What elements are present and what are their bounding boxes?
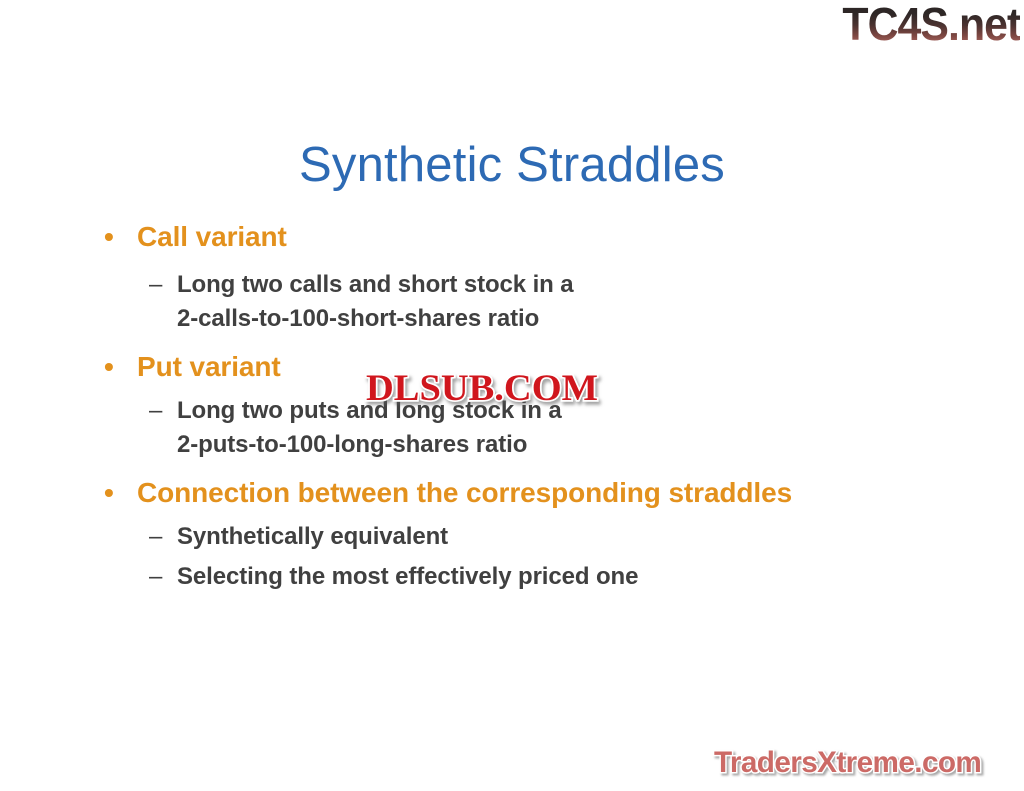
bullet-level1-call-variant: • Call variant: [96, 218, 976, 255]
bullet-level2-line: 2-puts-to-100-long-shares ratio: [177, 428, 976, 462]
bullet-dot-icon: •: [104, 348, 114, 385]
bullet-level2-line: Synthetically equivalent: [177, 520, 976, 554]
bullet-level2-line: Long two calls and short stock in a: [177, 268, 976, 302]
bullet-level2-line: 2-calls-to-100-short-shares ratio: [177, 302, 976, 336]
presentation-slide: TC4S.net Synthetic Straddles • Call vari…: [0, 0, 1024, 791]
spacer: [96, 255, 976, 268]
dlsub-watermark: DLSUB.COM: [366, 370, 598, 407]
dash-marker-icon: –: [149, 560, 162, 594]
bullet-level1-label: Put variant: [137, 351, 281, 382]
spacer: [96, 336, 976, 348]
bullet-level2-call-detail: – Long two calls and short stock in a 2-…: [96, 268, 976, 336]
dash-marker-icon: –: [149, 520, 162, 554]
bullet-level2-line: Selecting the most effectively priced on…: [177, 560, 976, 594]
spacer: [96, 462, 976, 474]
bullet-level1-label: Call variant: [137, 221, 287, 252]
slide-title: Synthetic Straddles: [0, 137, 1024, 193]
spacer: [96, 511, 976, 520]
dash-marker-icon: –: [149, 268, 162, 302]
bullet-level2-selecting-priced: – Selecting the most effectively priced …: [96, 560, 976, 594]
tc4s-brand-watermark: TC4S.net: [842, 0, 1020, 48]
bullet-level1-connection: • Connection between the corresponding s…: [96, 474, 976, 511]
bullet-dot-icon: •: [104, 474, 114, 511]
bullet-level1-label: Connection between the corresponding str…: [137, 477, 792, 508]
tradersxtreme-brand-watermark: TradersXtreme.com: [714, 746, 981, 780]
dash-marker-icon: –: [149, 394, 162, 428]
bullet-dot-icon: •: [104, 218, 114, 255]
bullet-level2-synthetically-equivalent: – Synthetically equivalent: [96, 520, 976, 554]
